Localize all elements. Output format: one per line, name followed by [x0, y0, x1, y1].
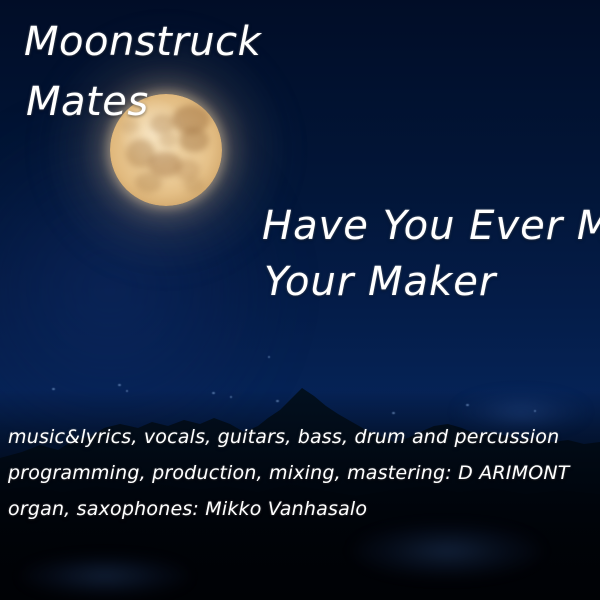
distant-light [392, 412, 395, 414]
credits-line: music&lyrics, vocals, guitars, bass, dru… [8, 428, 559, 447]
distant-light [466, 404, 469, 406]
album-cover: Moonstruck Mates Have You Ever Met Your … [0, 0, 600, 600]
artist-name-line-1: Moonstruck [24, 22, 261, 62]
album-title-line-1: Have You Ever Met [262, 206, 600, 246]
distant-light [276, 400, 279, 402]
album-title-line-2: Your Maker [264, 262, 496, 302]
distant-light [126, 390, 128, 392]
distant-light [118, 384, 121, 386]
foreground-wisp [352, 524, 542, 578]
artist-name-line-2: Mates [26, 82, 149, 122]
distant-light [268, 356, 270, 358]
distant-light [534, 410, 536, 412]
distant-light [52, 388, 55, 390]
foreground-wisp [20, 556, 190, 596]
credits-line: organ, saxophones: Mikko Vanhasalo [8, 500, 367, 519]
credits-line: programming, production, mixing, masteri… [8, 464, 570, 483]
distant-light [212, 392, 215, 394]
distant-light [230, 396, 232, 398]
